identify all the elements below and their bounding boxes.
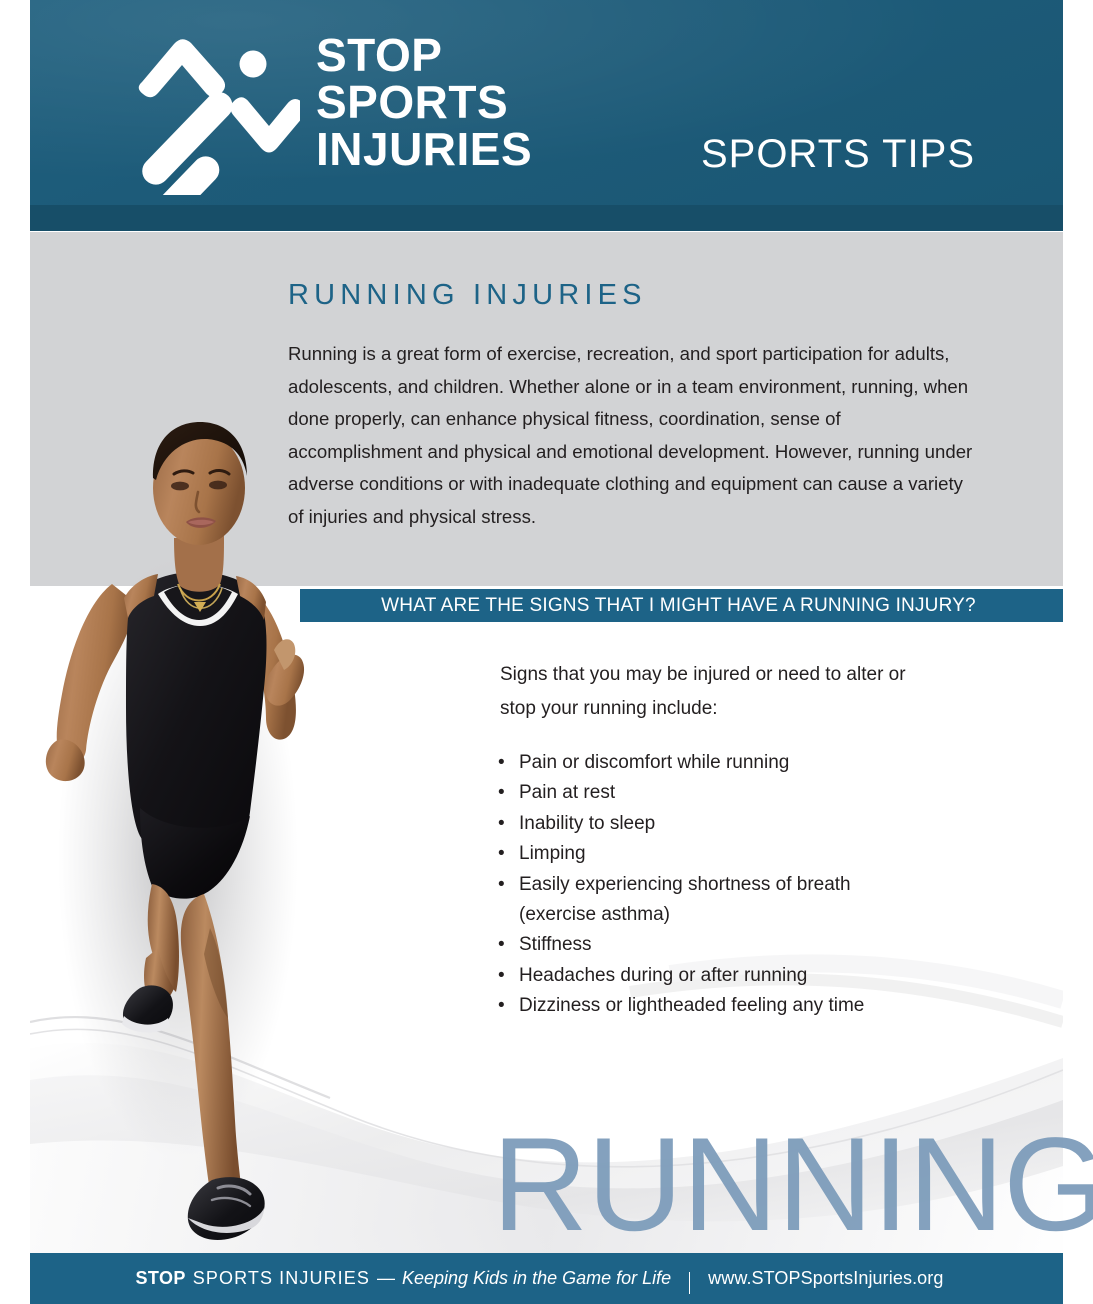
list-item-label: Stiffness bbox=[519, 934, 592, 955]
list-item: • Headaches during or after running bbox=[492, 961, 962, 991]
section-heading: WHAT ARE THE SIGNS THAT I MIGHT HAVE A R… bbox=[300, 589, 1063, 622]
list-item: • Dizziness or lightheaded feeling any t… bbox=[492, 991, 962, 1021]
list-item-label: Headaches during or after running bbox=[519, 965, 807, 986]
list-item-label: Dizziness or lightheaded feeling any tim… bbox=[519, 995, 864, 1016]
sport-watermark-title: RUNNING bbox=[492, 1119, 1093, 1252]
logo-word-injuries: INJURIES bbox=[316, 126, 532, 173]
logo-word-sports: SPORTS bbox=[316, 79, 532, 126]
page-footer: STOP SPORTS INJURIES — Keeping Kids in t… bbox=[30, 1253, 1063, 1304]
signs-intro-text: Signs that you may be injured or need to… bbox=[500, 658, 940, 726]
header-tagline: SPORTS TIPS bbox=[701, 132, 975, 177]
list-item: • Easily experiencing shortness of breat… bbox=[492, 870, 962, 931]
footer-tagline: Keeping Kids in the Game for Life bbox=[402, 1268, 671, 1289]
stop-sports-injuries-logo-icon bbox=[130, 30, 300, 195]
signs-list: • Pain or discomfort while running • Pai… bbox=[492, 748, 962, 1022]
list-item: • Pain at rest bbox=[492, 778, 962, 808]
section-header-bar: WHAT ARE THE SIGNS THAT I MIGHT HAVE A R… bbox=[300, 589, 1063, 622]
footer-divider bbox=[689, 1272, 690, 1294]
bullet-icon: • bbox=[498, 748, 505, 778]
list-item-label: Pain or discomfort while running bbox=[519, 752, 789, 773]
list-item-label: Limping bbox=[519, 843, 586, 864]
sports-tips-flyer: STOP SPORTS INJURIES SPORTS TIPS RUNNING… bbox=[0, 0, 1093, 1304]
runner-photo bbox=[28, 388, 338, 1243]
list-item-label: Pain at rest bbox=[519, 782, 615, 803]
bullet-icon: • bbox=[498, 961, 505, 991]
bullet-icon: • bbox=[498, 870, 505, 900]
bullet-icon: • bbox=[498, 991, 505, 1021]
footer-brand-stop: STOP bbox=[135, 1268, 185, 1289]
list-item-sublabel: (exercise asthma) bbox=[519, 900, 962, 930]
bullet-icon: • bbox=[498, 839, 505, 869]
page-title: RUNNING INJURIES bbox=[288, 279, 647, 312]
list-item: • Stiffness bbox=[492, 930, 962, 960]
footer-website-link[interactable]: www.STOPSportsInjuries.org bbox=[708, 1268, 943, 1289]
bullet-icon: • bbox=[498, 778, 505, 808]
header-accent-strip bbox=[30, 205, 1063, 231]
bullet-icon: • bbox=[498, 930, 505, 960]
list-item: • Inability to sleep bbox=[492, 809, 962, 839]
list-item-label: Inability to sleep bbox=[519, 813, 655, 834]
list-item: • Pain or discomfort while running bbox=[492, 748, 962, 778]
intro-paragraph: Running is a great form of exercise, rec… bbox=[288, 338, 978, 534]
footer-brand-org: SPORTS INJURIES bbox=[193, 1268, 370, 1289]
list-item: • Limping bbox=[492, 839, 962, 869]
logo-word-stop: STOP bbox=[316, 32, 532, 79]
footer-dash: — bbox=[377, 1268, 395, 1289]
list-item-label: Easily experiencing shortness of breath bbox=[519, 874, 851, 895]
page-header: STOP SPORTS INJURIES SPORTS TIPS bbox=[30, 0, 1063, 205]
bullet-icon: • bbox=[498, 809, 505, 839]
logo-wordmark: STOP SPORTS INJURIES bbox=[316, 32, 532, 173]
